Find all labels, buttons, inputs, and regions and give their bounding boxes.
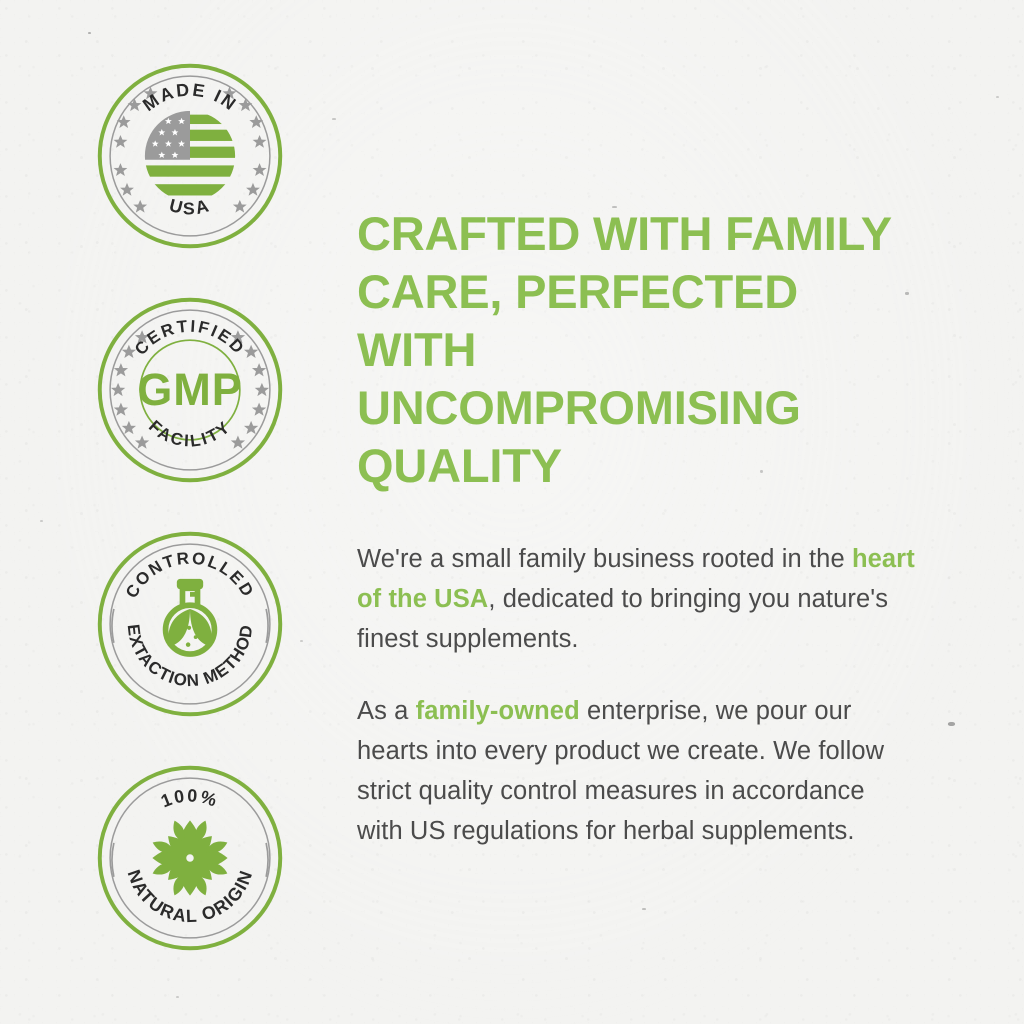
paragraph-text: We're a small family business rooted in … <box>357 545 852 573</box>
badge-side-arc-right <box>266 609 268 643</box>
paper-fleck <box>948 722 955 726</box>
leaf-rosette-icon <box>151 819 229 897</box>
usa-flag-circle-icon <box>141 111 239 201</box>
promo-panel: MADE IN USA <box>0 0 1024 1024</box>
badge-top-label: 100% <box>158 785 221 811</box>
badge-side-arc-left <box>112 609 114 643</box>
certification-badge-list: MADE IN USA <box>96 62 286 998</box>
badge-bottom-label: FACILITY <box>145 417 235 451</box>
page-title: CRAFTED WITH FAMILY CARE, PERFECTED WITH… <box>357 205 917 495</box>
badge-top-label: CERTIFIED <box>131 316 249 358</box>
highlighted-phrase: family-owned <box>416 697 580 725</box>
paper-fleck <box>642 908 646 910</box>
badge-side-arc-left <box>112 843 114 877</box>
paper-fleck <box>300 640 303 642</box>
badge-bottom-label: USA <box>167 195 213 218</box>
promo-text-column: CRAFTED WITH FAMILY CARE, PERFECTED WITH… <box>357 205 917 851</box>
paper-fleck <box>332 118 336 120</box>
flask-leaf-icon <box>166 579 215 654</box>
paper-fleck <box>40 520 43 522</box>
badge-center-label: GMP <box>137 364 243 415</box>
paper-fleck <box>88 32 91 34</box>
badge-made-in-usa: MADE IN USA <box>96 62 284 250</box>
badge-gmp-certified: GMP CERTIFIED FACILITY <box>96 296 284 484</box>
paper-fleck <box>996 96 999 98</box>
body-copy: We're a small family business rooted in … <box>357 539 917 851</box>
badge-side-arc-right <box>266 843 268 877</box>
paragraph-2: As a family-owned enterprise, we pour ou… <box>357 691 917 851</box>
badge-natural-origin: 100% NATURAL ORIGIN <box>96 764 284 952</box>
paragraph-1: We're a small family business rooted in … <box>357 539 917 659</box>
paragraph-text: As a <box>357 697 416 725</box>
badge-controlled-extraction: CONTROLLED EXTACTION METHOD <box>96 530 284 718</box>
